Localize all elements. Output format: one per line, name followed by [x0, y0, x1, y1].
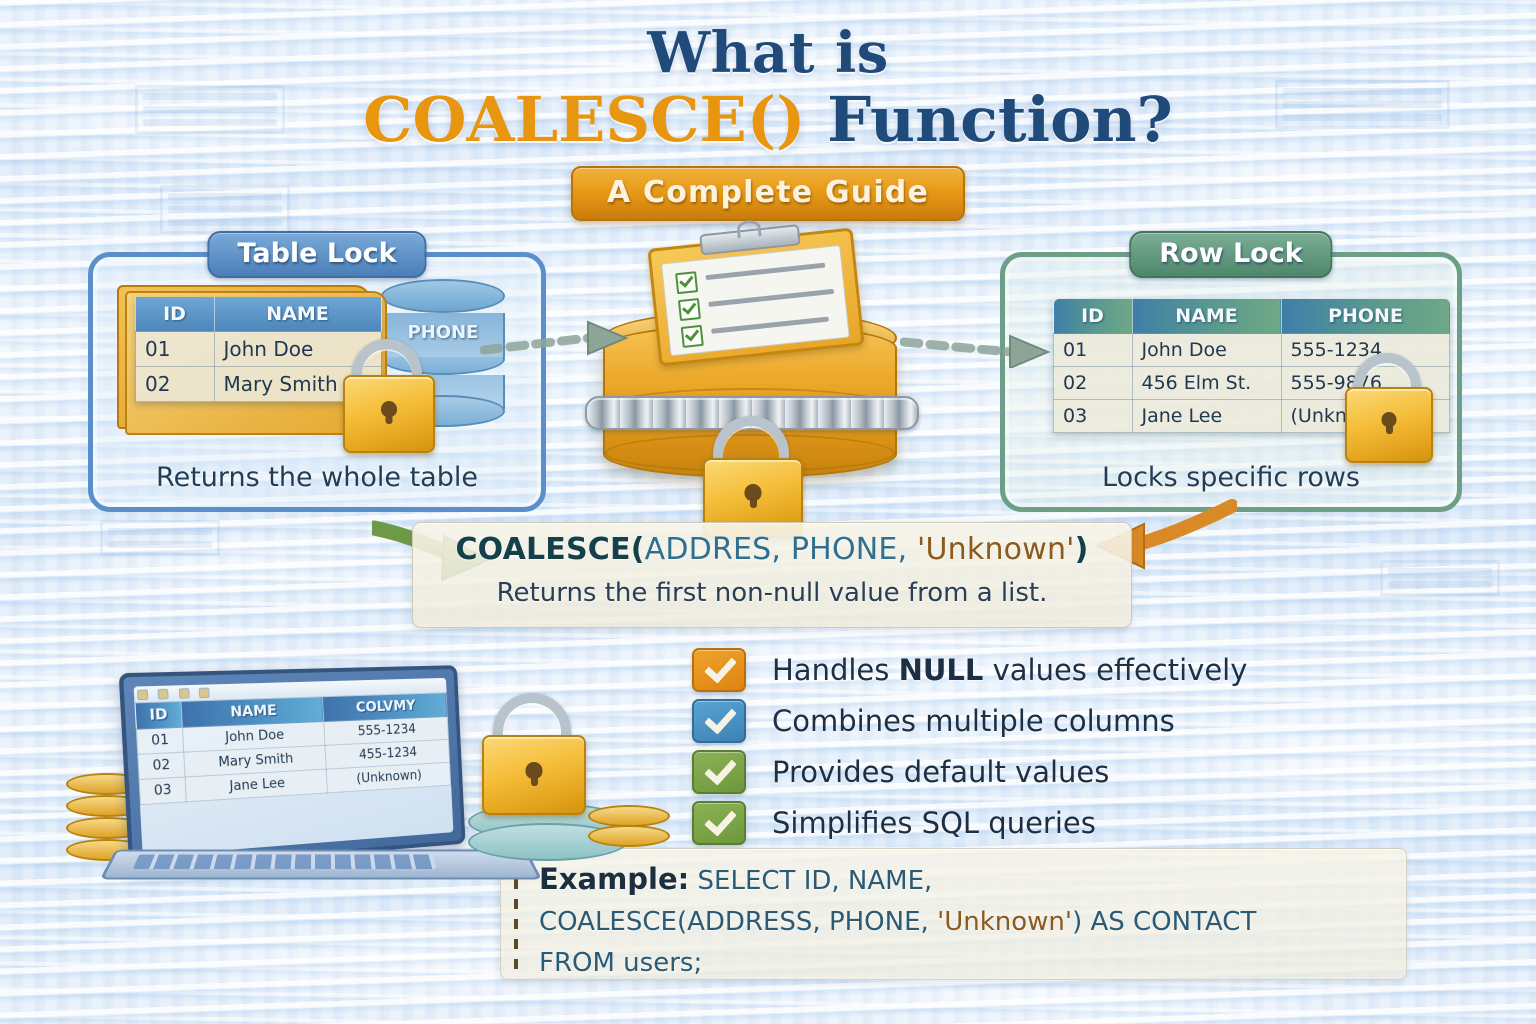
clipboard-line-3	[711, 317, 829, 334]
column-header-id: ID	[1054, 299, 1133, 334]
dashed-arrow-center-to-right	[900, 318, 1060, 368]
padlock-icon	[1345, 353, 1429, 459]
padlock-icon	[482, 693, 582, 811]
infographic-canvas: What is COALESCE() Function? A Complete …	[0, 0, 1536, 1024]
check-icon-orange	[692, 648, 746, 692]
page-title-line2: COALESCE() Function?	[0, 85, 1536, 154]
watermark-table-5	[1380, 560, 1500, 596]
table-header-row: ID NAME PHONE	[1054, 299, 1450, 334]
window-dot	[199, 688, 210, 699]
clipboard-check-3	[681, 325, 704, 348]
coin-icon	[588, 825, 670, 847]
window-dot	[137, 689, 148, 700]
window-dot	[158, 689, 169, 700]
cell-id: 02	[138, 752, 185, 779]
cell-id: 03	[139, 777, 186, 805]
table-lock-panel: Table Lock PHONE ID NAME	[88, 252, 546, 512]
cell-id: 01	[136, 727, 183, 754]
laptop-scene: ID NAME COLVMY 01 John Doe 555-1234 02 M…	[60, 655, 660, 905]
title-block: What is COALESCE() Function? A Complete …	[0, 24, 1536, 221]
check-icon-blue	[692, 699, 746, 743]
dashed-arrow-left-to-center	[480, 318, 640, 368]
checklist-label-3: Provides default values	[772, 755, 1109, 789]
formula-sep-2: ,	[898, 532, 917, 567]
page-title-line1: What is	[0, 24, 1536, 83]
locked-database-icon	[575, 238, 925, 528]
cell-name: John Doe	[1132, 334, 1281, 367]
cell-id: 01	[1054, 334, 1133, 367]
cell-name: Jane Lee	[1132, 400, 1281, 433]
clipboard-line-1	[705, 263, 825, 281]
cell-id: 02	[1054, 367, 1133, 400]
keyboard	[133, 854, 437, 869]
window-dot	[179, 688, 190, 699]
example-line-1: Example: SELECT ID, NAME,	[539, 859, 1394, 902]
check-icon-green-2	[692, 801, 746, 845]
list-item: Combines multiple columns	[692, 696, 1352, 746]
checklist-label-4: Simplifies SQL queries	[772, 806, 1096, 840]
laptop-icon: ID NAME COLVMY 01 John Doe 555-1234 02 M…	[119, 665, 466, 871]
example-line-3: FROM users;	[539, 943, 1394, 984]
laptop-table: ID NAME COLVMY 01 John Doe 555-1234 02 M…	[134, 693, 451, 805]
padlock-icon	[343, 339, 431, 449]
checklist-label-1: Handles NULL values effectively	[772, 653, 1247, 687]
subtitle-badge: A Complete Guide	[571, 166, 965, 221]
padlock-icon	[703, 416, 799, 534]
list-item: Provides default values	[692, 747, 1352, 797]
table-header-row: ID NAME	[136, 297, 382, 332]
benefits-checklist: Handles NULL values effectively Combines…	[692, 645, 1352, 849]
watermark-table-4	[100, 520, 220, 556]
clipboard-icon	[647, 228, 864, 367]
coin-icon	[588, 805, 670, 827]
column-header-id: ID	[136, 297, 215, 332]
table-lock-pill: Table Lock	[207, 231, 426, 278]
row-lock-panel: Row Lock ID NAME PHONE 01 John Doe 555-1…	[1000, 252, 1462, 512]
example-line-2: COALESCE(ADDRESS, PHONE, 'Unknown') AS C…	[539, 902, 1394, 943]
clipboard-check-2	[678, 298, 701, 321]
formula-arg-address: ADDRES	[645, 532, 772, 567]
formula-subtitle: Returns the first non-null value from a …	[413, 578, 1131, 608]
row-lock-pill: Row Lock	[1129, 231, 1332, 278]
formula-sep-1: ,	[771, 532, 790, 567]
title-coalesce: COALESCE()	[363, 83, 805, 156]
title-function: Function?	[827, 83, 1173, 156]
check-icon-green-1	[692, 750, 746, 794]
formula-literal-unknown: 'Unknown'	[917, 532, 1075, 567]
clipboard-line-2	[708, 289, 834, 307]
formula-close-paren: )	[1075, 532, 1089, 567]
clipboard-paper	[661, 245, 850, 356]
cell-id: 01	[136, 332, 215, 367]
formula-arg-phone: PHONE	[791, 532, 898, 567]
laptop-base	[100, 850, 542, 880]
cell-id: 03	[1054, 400, 1133, 433]
table-lock-caption: Returns the whole table	[93, 462, 541, 493]
column-header-name: NAME	[1132, 299, 1281, 334]
list-item: Handles NULL values effectively	[692, 645, 1352, 695]
column-header-phone: PHONE	[1281, 299, 1450, 334]
column-header-name: NAME	[214, 297, 381, 332]
coalesce-formula: COALESCE(ADDRES, PHONE, 'Unknown')	[413, 532, 1131, 567]
column-header-id: ID	[135, 702, 182, 729]
example-sql: Example: SELECT ID, NAME, COALESCE(ADDRE…	[539, 859, 1394, 984]
cell-name: 456 Elm St.	[1132, 367, 1281, 400]
formula-panel: COALESCE(ADDRES, PHONE, 'Unknown') Retur…	[412, 522, 1132, 628]
checklist-label-2: Combines multiple columns	[772, 704, 1175, 738]
laptop-screen: ID NAME COLVMY 01 John Doe 555-1234 02 M…	[134, 678, 454, 857]
formula-function: COALESCE(	[455, 532, 644, 567]
list-item: Simplifies SQL queries	[692, 798, 1352, 848]
cell-id: 02	[136, 367, 215, 402]
clipboard-check-1	[675, 271, 698, 294]
